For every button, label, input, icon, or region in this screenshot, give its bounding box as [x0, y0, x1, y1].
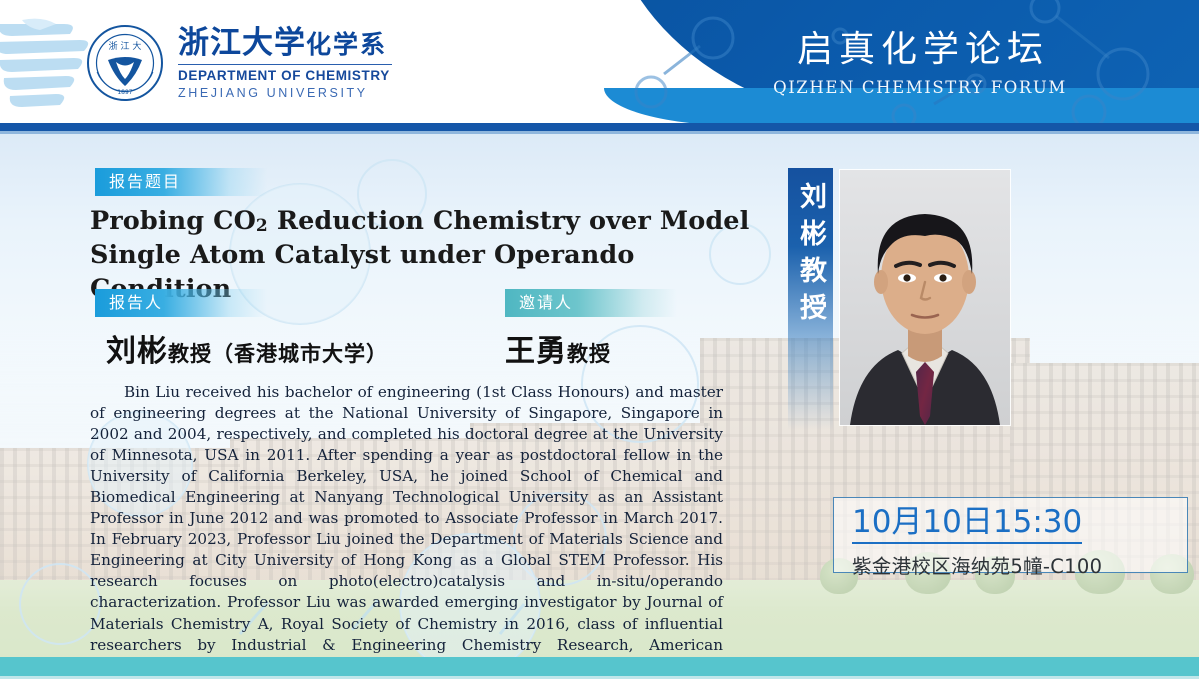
logo-chinese-name: 浙江大学化学系 — [178, 27, 392, 60]
label-host-wrap: 邀请人 — [505, 289, 677, 317]
speaker-affiliation: 教授（香港城市大学） — [168, 343, 388, 366]
label-speaker-wrap: 报告人 — [95, 289, 267, 317]
host-title: 教授 — [567, 343, 611, 366]
label-talk-title: 报告题目 — [95, 168, 267, 196]
speaker-vertical-name: 刘彬教授 — [797, 182, 824, 330]
forum-title-english: QIZHEN CHEMISTRY FORUM — [773, 78, 1067, 97]
event-info-box: 10月10日15:30 紫金港校区海纳苑5幢-C100 — [833, 497, 1188, 573]
logo-english-university: ZHEJIANG UNIVERSITY — [178, 85, 392, 101]
label-talk-title-wrap: 报告题目 — [95, 168, 267, 196]
logo-divider — [178, 64, 392, 65]
label-host: 邀请人 — [505, 289, 677, 317]
header-separator-band — [0, 123, 1199, 131]
host-name-block: 王勇教授 — [505, 326, 611, 370]
talk-title-subscript: 2 — [256, 216, 268, 236]
svg-text:浙 江 大: 浙 江 大 — [109, 40, 142, 52]
seal-year-text: 1897 — [117, 89, 132, 96]
logo-english-department: DEPARTMENT OF CHEMISTRY — [178, 68, 392, 85]
names-row: 刘彬教授（香港城市大学） 王勇教授 — [90, 326, 790, 372]
zhejiang-university-seal-icon: 浙 江 大 1897 — [86, 24, 164, 102]
poster-header: 浙 江 大 1897 浙江大学化学系 DEPARTMENT OF CHEMIST… — [0, 0, 1199, 131]
footer-band — [0, 657, 1199, 676]
university-logo: 浙 江 大 1897 浙江大学化学系 DEPARTMENT OF CHEMIST… — [86, 24, 392, 102]
event-datetime: 10月10日15:30 — [852, 504, 1082, 544]
seminar-poster: 浙 江 大 1897 浙江大学化学系 DEPARTMENT OF CHEMIST… — [0, 0, 1199, 679]
label-speaker: 报告人 — [95, 289, 267, 317]
speaker-name-block: 刘彬教授（香港城市大学） — [106, 326, 388, 370]
speaker-name: 刘彬 — [106, 334, 168, 369]
event-venue: 紫金港校区海纳苑5幢-C100 — [852, 550, 1187, 579]
forum-title-chinese: 启真化学论坛 — [791, 29, 1049, 70]
forum-title-block: 启真化学论坛 QIZHEN CHEMISTRY FORUM — [640, 0, 1199, 126]
host-name: 王勇 — [505, 334, 567, 369]
speaker-portrait — [840, 170, 1010, 425]
speaker-vertical-nameplate: 刘彬教授 — [788, 168, 833, 430]
speaker-biography: Bin Liu received his bachelor of enginee… — [90, 382, 723, 679]
